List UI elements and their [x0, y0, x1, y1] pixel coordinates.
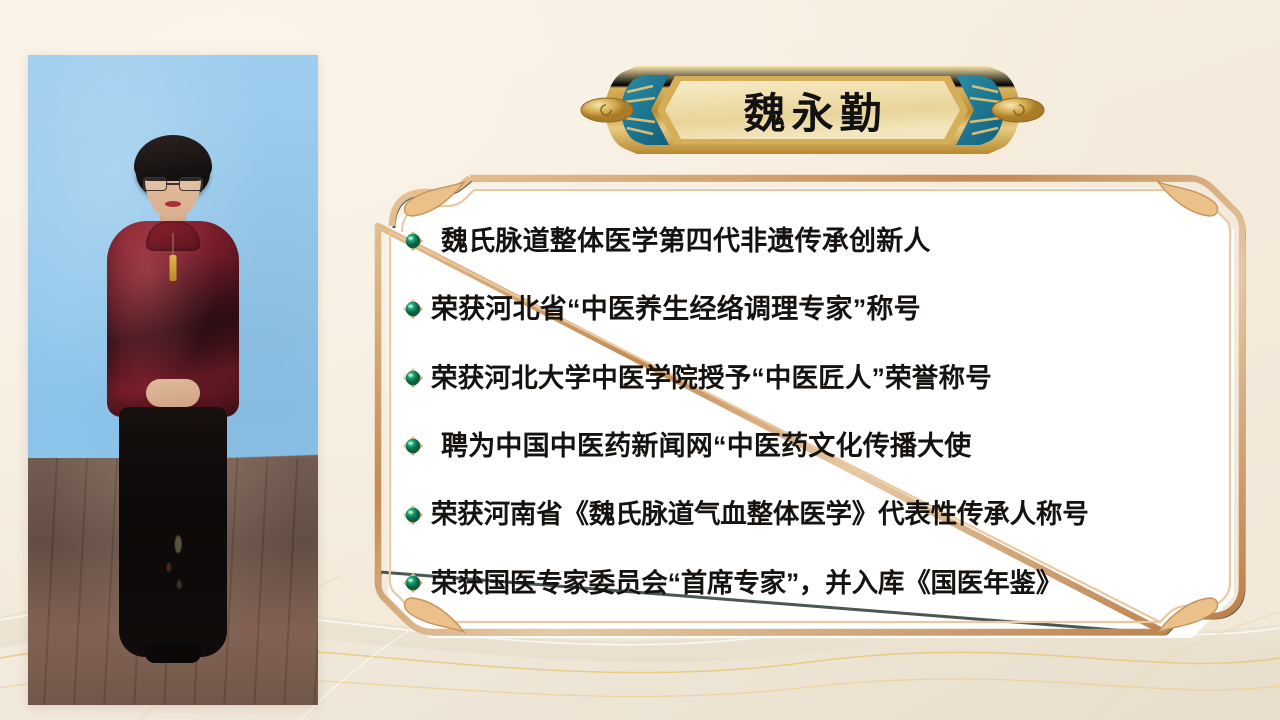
list-item-label: 荣获河北省“中医养生经络调理专家”称号: [431, 296, 921, 323]
list-item-label: 聘为中国中医药新闻网“中医药文化传播大使: [441, 433, 972, 460]
pendant: [170, 255, 177, 281]
list-item: 荣获国医专家委员会“首席专家”，并入库《国医年鉴》: [402, 554, 1220, 612]
list-item: 魏氏脉道整体医学第四代非遗传承创新人: [402, 212, 1220, 270]
green-gem-bullet-icon: [402, 504, 424, 526]
page-title: 魏永勤: [565, 58, 1060, 162]
portrait-photo: [28, 55, 318, 705]
credentials-list: 魏氏脉道整体医学第四代非遗传承创新人 荣获河北省“中医养生经络调理专家”称号: [402, 208, 1220, 618]
green-gem-bullet-icon: [402, 572, 424, 594]
eyeglasses: [143, 177, 203, 191]
list-item: 荣获河北大学中医学院授予“中医匠人”荣誉称号: [402, 349, 1220, 407]
green-gem-bullet-icon: [402, 298, 424, 320]
green-gem-bullet-icon: [402, 435, 424, 457]
credentials-panel: 魏氏脉道整体医学第四代非遗传承创新人 荣获河北省“中医养生经络调理专家”称号: [372, 172, 1250, 654]
list-item-label: 荣获国医专家委员会“首席专家”，并入库《国医年鉴》: [431, 570, 1062, 597]
list-item-label: 魏氏脉道整体医学第四代非遗传承创新人: [441, 228, 931, 255]
list-item-label: 荣获河南省《魏氏脉道气血整体医学》代表性传承人称号: [431, 501, 1089, 528]
green-gem-bullet-icon: [402, 367, 424, 389]
list-item: 聘为中国中医药新闻网“中医药文化传播大使: [402, 417, 1220, 475]
list-item: 荣获河北省“中医养生经络调理专家”称号: [402, 280, 1220, 338]
slide-canvas: 魏永勤: [0, 0, 1280, 720]
list-item: 荣获河南省《魏氏脉道气血整体医学》代表性传承人称号: [402, 486, 1220, 544]
title-plaque: 魏永勤: [565, 58, 1060, 162]
green-gem-bullet-icon: [402, 230, 424, 252]
list-item-label: 荣获河北大学中医学院授予“中医匠人”荣誉称号: [431, 365, 992, 392]
